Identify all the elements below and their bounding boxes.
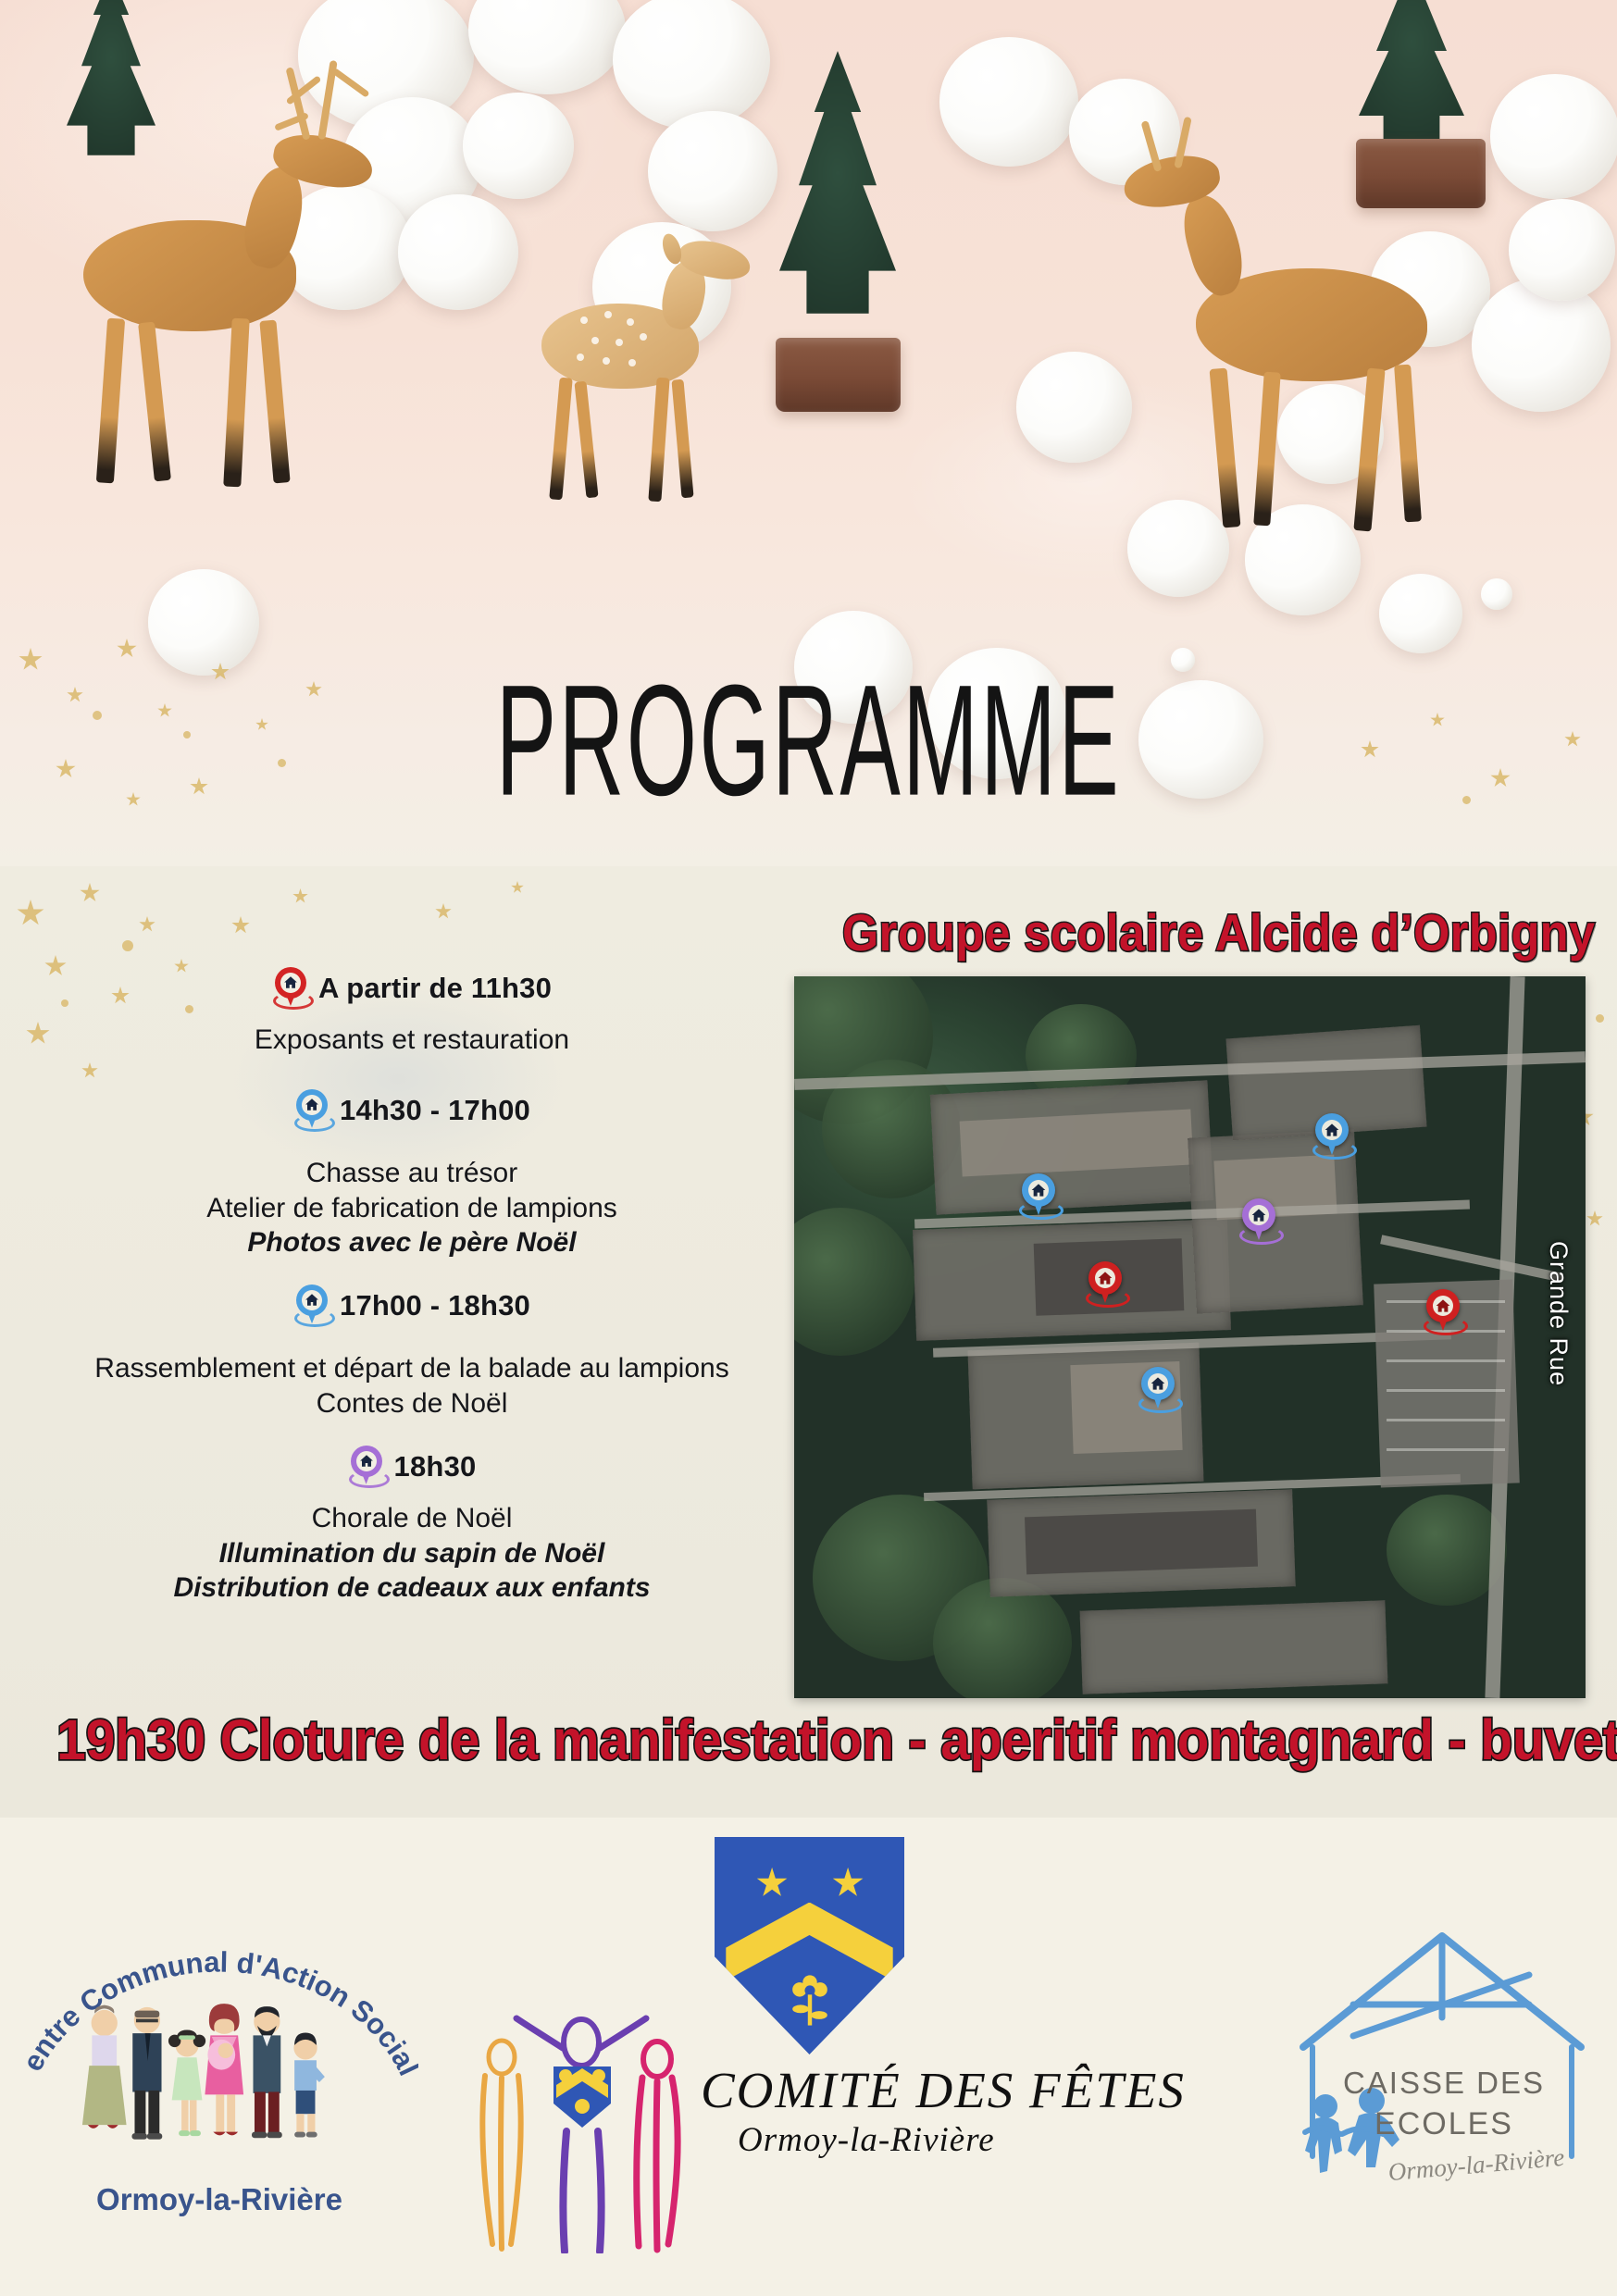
snowball: [398, 194, 518, 310]
map-pin-icon-blue: [293, 1089, 330, 1132]
house-icon: [1436, 1298, 1450, 1313]
comite-title: COMITÉ DES FÊTES: [701, 2061, 1186, 2119]
house-icon: [1098, 1271, 1113, 1285]
gold-dot: [183, 731, 191, 738]
logo-comite-des-fetes: COMITÉ DES FÊTES Ormoy-la-Rivière: [474, 2013, 1177, 2253]
schedule-detail: Atelier de fabrication de lampions: [37, 1191, 787, 1226]
deer-adult-left: [46, 111, 352, 500]
gold-star: [1430, 713, 1445, 727]
gold-star: [255, 718, 268, 731]
schedule-detail: Contes de Noël: [37, 1386, 787, 1421]
snowball: [148, 569, 259, 676]
gold-star: [1361, 740, 1379, 759]
gold-star: [19, 648, 43, 672]
house-icon: [1251, 1208, 1266, 1222]
gold-star: [56, 759, 76, 779]
snowball: [648, 111, 777, 231]
schedule-time-label: A partir de 11h30: [318, 972, 552, 1005]
gold-star: [157, 703, 172, 718]
house-icon: [1325, 1123, 1339, 1137]
map-pin-red-center[interactable]: [1086, 1261, 1125, 1308]
gold-dot: [278, 759, 286, 767]
schedule-detail: Distribution de cadeaux aux enfants: [37, 1570, 787, 1606]
caisse-line1: CAISSE DES: [1287, 2066, 1601, 2101]
caisse-line2: ECOLES: [1287, 2106, 1601, 2142]
gold-star: [1490, 768, 1511, 788]
school-subtitle: Groupe scolaire Alcide d’Orbigny: [842, 902, 1509, 962]
house-icon: [1151, 1376, 1165, 1391]
snowball: [1379, 574, 1462, 653]
schedule-entry-time: 14h30 - 17h00: [37, 1089, 787, 1132]
gold-dot: [93, 711, 102, 720]
deer-fawn: [523, 248, 736, 516]
snowball: [1490, 74, 1617, 199]
schedule-detail: Exposants et restauration: [37, 1023, 787, 1058]
family-illustration: [74, 1974, 370, 2196]
schedule-time-label: 14h30 - 17h00: [340, 1094, 530, 1127]
house-icon: [1031, 1183, 1046, 1198]
gold-dot: [1462, 796, 1471, 804]
snowball: [1016, 352, 1132, 463]
snowball: [468, 0, 626, 94]
map-pin-blue-left[interactable]: [1019, 1173, 1058, 1220]
snowball: [1509, 199, 1615, 301]
poster-root: PROGRAMME Groupe scolaire Alcide d: [0, 0, 1617, 2296]
snowball: [1472, 278, 1611, 412]
schedule-time-label: 18h30: [394, 1450, 477, 1483]
map-pin-blue-bottom[interactable]: [1138, 1367, 1177, 1413]
map-pin-icon-red: [272, 967, 309, 1010]
aerial-map[interactable]: Grande Rue: [794, 976, 1586, 1698]
map-pin-blue-top[interactable]: [1312, 1113, 1351, 1160]
gold-star: [126, 792, 141, 807]
logo-ccas: Centre Communal d'Action Sociale: [20, 1902, 418, 2221]
map-pin-icon-purple: [348, 1446, 385, 1488]
map-pin-red-right[interactable]: [1424, 1289, 1462, 1335]
schedule-list: A partir de 11h30 Exposants et restaurat…: [37, 967, 787, 1606]
pine-tree-center: [740, 51, 935, 356]
comite-figures: [474, 2013, 705, 2253]
comite-town: Ormoy-la-Rivière: [738, 2120, 995, 2160]
page-title: PROGRAMME: [307, 662, 1310, 820]
logo-caisse-des-ecoles: CAISSE DES ECOLES Ormoy-la-Rivière: [1287, 1925, 1601, 2230]
snowball: [463, 93, 574, 199]
schedule-detail: Chasse au trésor: [37, 1156, 787, 1191]
closing-banner: 19h30 Cloture de la manifestation - aper…: [56, 1707, 1561, 1772]
schedule-entry-time: A partir de 11h30: [37, 967, 787, 1010]
gold-star: [1564, 731, 1581, 748]
tree-pot-center: [776, 338, 901, 412]
map-pin-icon-blue: [293, 1285, 330, 1327]
deer-adult-right: [1131, 148, 1455, 537]
snowball: [939, 37, 1078, 167]
gold-star: [117, 639, 137, 659]
schedule-entry-time: 18h30: [37, 1446, 787, 1488]
pearl: [1481, 578, 1512, 610]
schedule-detail: Illumination du sapin de Noël: [37, 1536, 787, 1571]
schedule-detail: Photos avec le père Noël: [37, 1225, 787, 1260]
map-pin-purple[interactable]: [1239, 1198, 1278, 1245]
schedule-detail: Rassemblement et départ de la balade au …: [37, 1351, 787, 1386]
schedule-entry-time: 17h00 - 18h30: [37, 1285, 787, 1327]
gold-star: [67, 687, 83, 703]
ccas-town-label: Ormoy-la-Rivière: [20, 2182, 418, 2217]
street-label-grande-rue: Grande Rue: [1544, 1241, 1573, 1386]
schedule-time-label: 17h00 - 18h30: [340, 1289, 530, 1322]
schedule-detail: Chorale de Noël: [37, 1501, 787, 1536]
gold-star: [190, 777, 208, 796]
